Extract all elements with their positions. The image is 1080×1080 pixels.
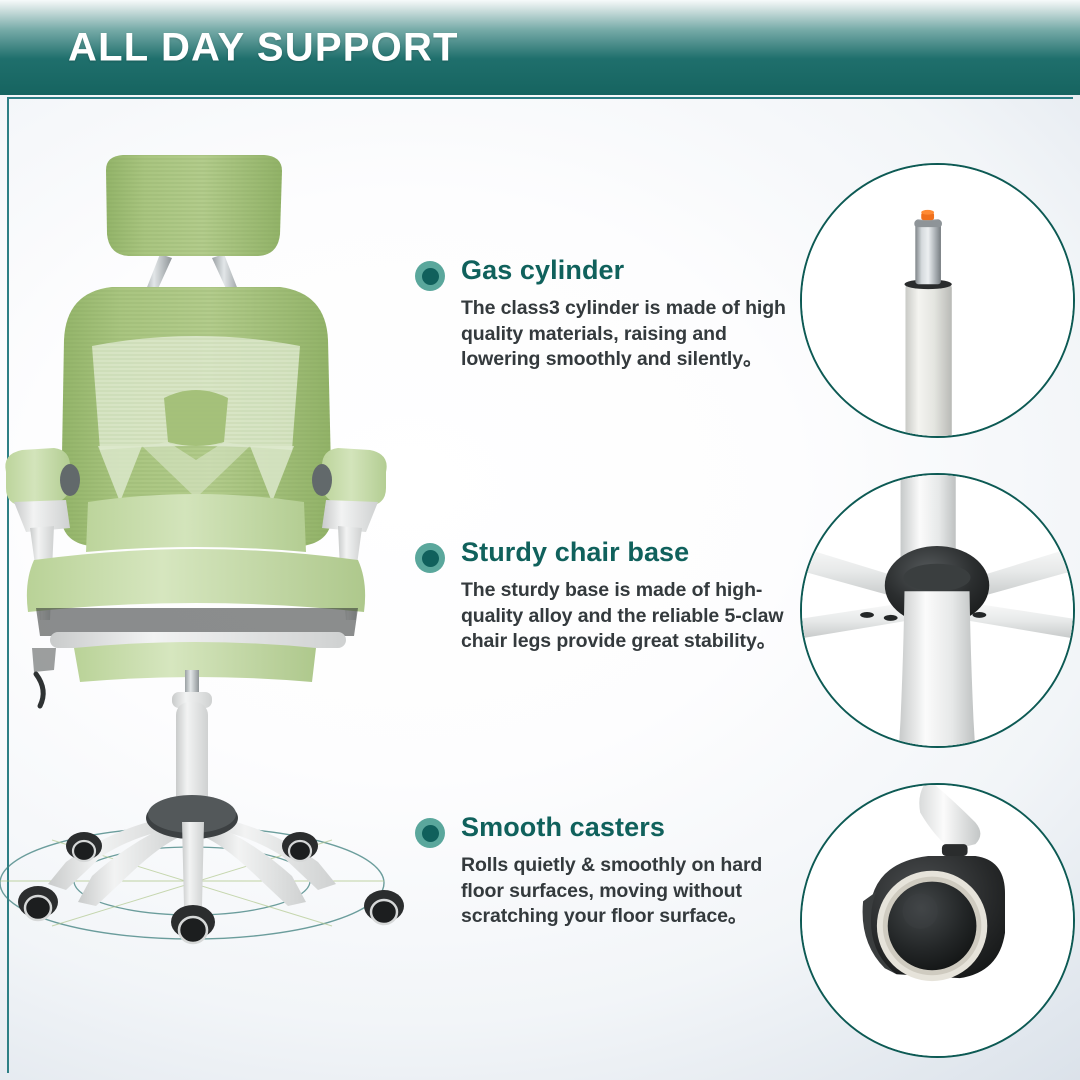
- header-bar: ALL DAY SUPPORT: [0, 0, 1080, 95]
- lumbar-cushion: [86, 494, 306, 552]
- filled-circle-bullet-icon: [415, 543, 445, 573]
- caster-photo: [800, 783, 1075, 1058]
- feature-description: The class3 cylinder is made of high qual…: [461, 296, 795, 372]
- infographic-canvas: ALL DAY SUPPORT: [0, 0, 1080, 1080]
- headrest: [106, 155, 282, 256]
- caster-wheel: [171, 905, 215, 943]
- feature-title: Sturdy chair base: [461, 537, 795, 567]
- seat-cushion: [27, 549, 365, 636]
- caster-wheel: [364, 890, 404, 924]
- feature-description: Rolls quietly & smoothly on hard floor s…: [461, 853, 795, 929]
- feature-sturdy-chair-base: Sturdy chair base The sturdy base is mad…: [415, 537, 795, 654]
- feature-title: Gas cylinder: [461, 255, 795, 285]
- gas-lift-cylinder: [172, 670, 212, 814]
- five-star-base: [18, 795, 404, 943]
- filled-circle-bullet-icon: [415, 818, 445, 848]
- page-title: ALL DAY SUPPORT: [68, 25, 459, 70]
- caster-wheel: [18, 886, 58, 920]
- filled-circle-bullet-icon: [415, 261, 445, 291]
- feature-smooth-casters: Smooth casters Rolls quietly & smoothly …: [415, 812, 795, 929]
- feature-description: The sturdy base is made of high-quality …: [461, 578, 795, 654]
- feature-gas-cylinder: Gas cylinder The class3 cylinder is made…: [415, 255, 795, 372]
- gas-cylinder-photo: [800, 163, 1075, 438]
- green-ergonomic-office-chair: [0, 150, 422, 960]
- chair-base-photo: [800, 473, 1075, 748]
- feature-title: Smooth casters: [461, 812, 795, 842]
